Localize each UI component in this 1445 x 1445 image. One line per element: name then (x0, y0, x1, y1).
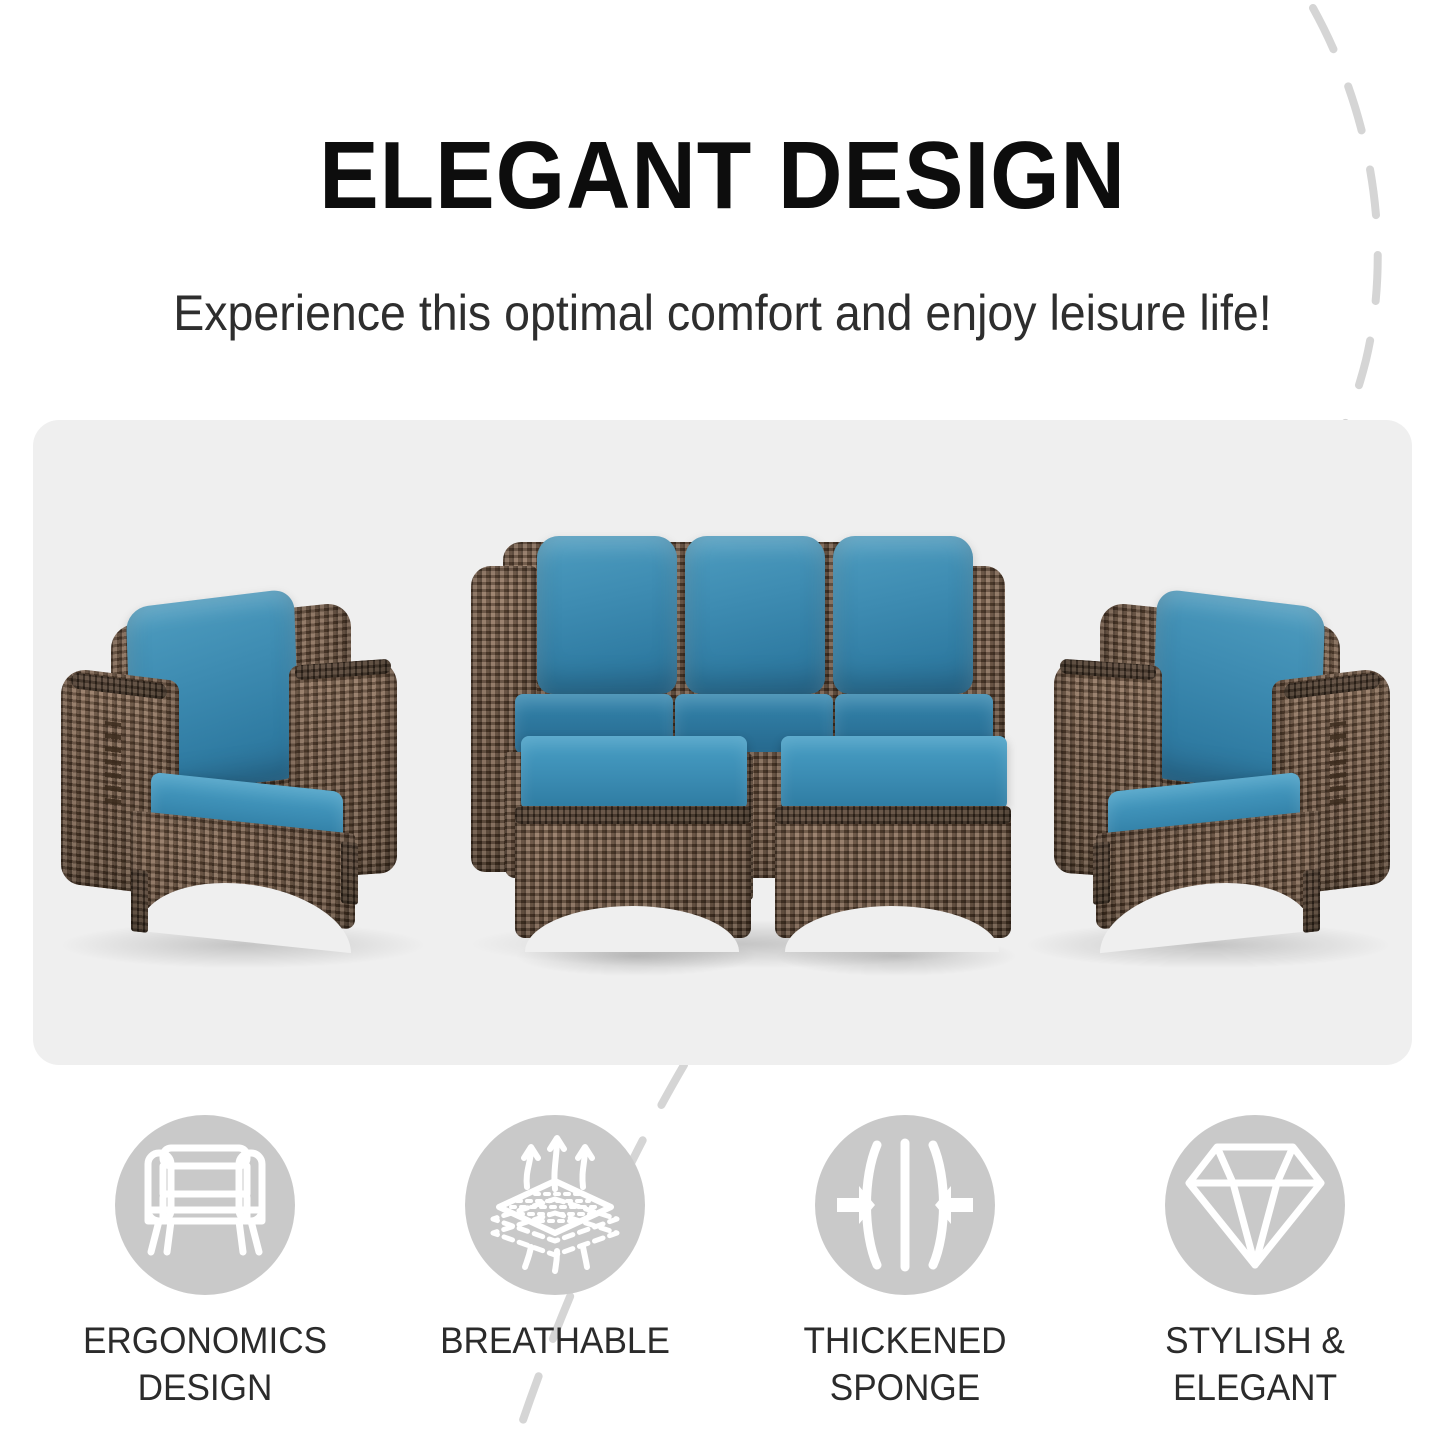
breathable-layers-icon (493, 1138, 617, 1271)
cushion-back-1 (537, 536, 677, 694)
feature-label: BREATHABLE (394, 1317, 717, 1364)
compression-sponge-icon (867, 1143, 944, 1267)
feature-icon-circle (815, 1115, 995, 1295)
ottoman-left (511, 736, 761, 986)
feature-label: STYLISH & ELEGANT (1094, 1317, 1417, 1412)
poster-stage: ELEGANT DESIGN Experience this optimal c… (0, 0, 1445, 1445)
armchair-icon (148, 1148, 262, 1252)
feature-label: ERGONOMICS DESIGN (44, 1317, 367, 1412)
cushion-back-2 (685, 536, 825, 694)
feature-ergonomics-design: ERGONOMICS DESIGN (35, 1115, 375, 1412)
feature-row: ERGONOMICS DESIGN (0, 1105, 1445, 1445)
cushion-ottoman-right (781, 736, 1007, 810)
feature-stylish-elegant: STYLISH & ELEGANT (1085, 1115, 1425, 1412)
feature-icon-circle (465, 1115, 645, 1295)
product-image-card (33, 420, 1412, 1065)
page-title: ELEGANT DESIGN (51, 128, 1395, 224)
furniture-set-scene (33, 420, 1412, 1065)
feature-icon-circle (1165, 1115, 1345, 1295)
ottoman-right (771, 736, 1021, 986)
feature-icon-circle (115, 1115, 295, 1295)
feature-label: THICKENED SPONGE (744, 1317, 1067, 1412)
page-subtitle: Experience this optimal comfort and enjo… (51, 286, 1395, 341)
armchair-left (53, 570, 433, 970)
armchair-right (1018, 570, 1398, 970)
feature-breathable: BREATHABLE (385, 1115, 725, 1364)
feature-thickened-sponge: THICKENED SPONGE (735, 1115, 1075, 1412)
diamond-gem-icon (1189, 1147, 1321, 1265)
cushion-back-3 (833, 536, 973, 694)
cushion-ottoman-left (521, 736, 747, 810)
